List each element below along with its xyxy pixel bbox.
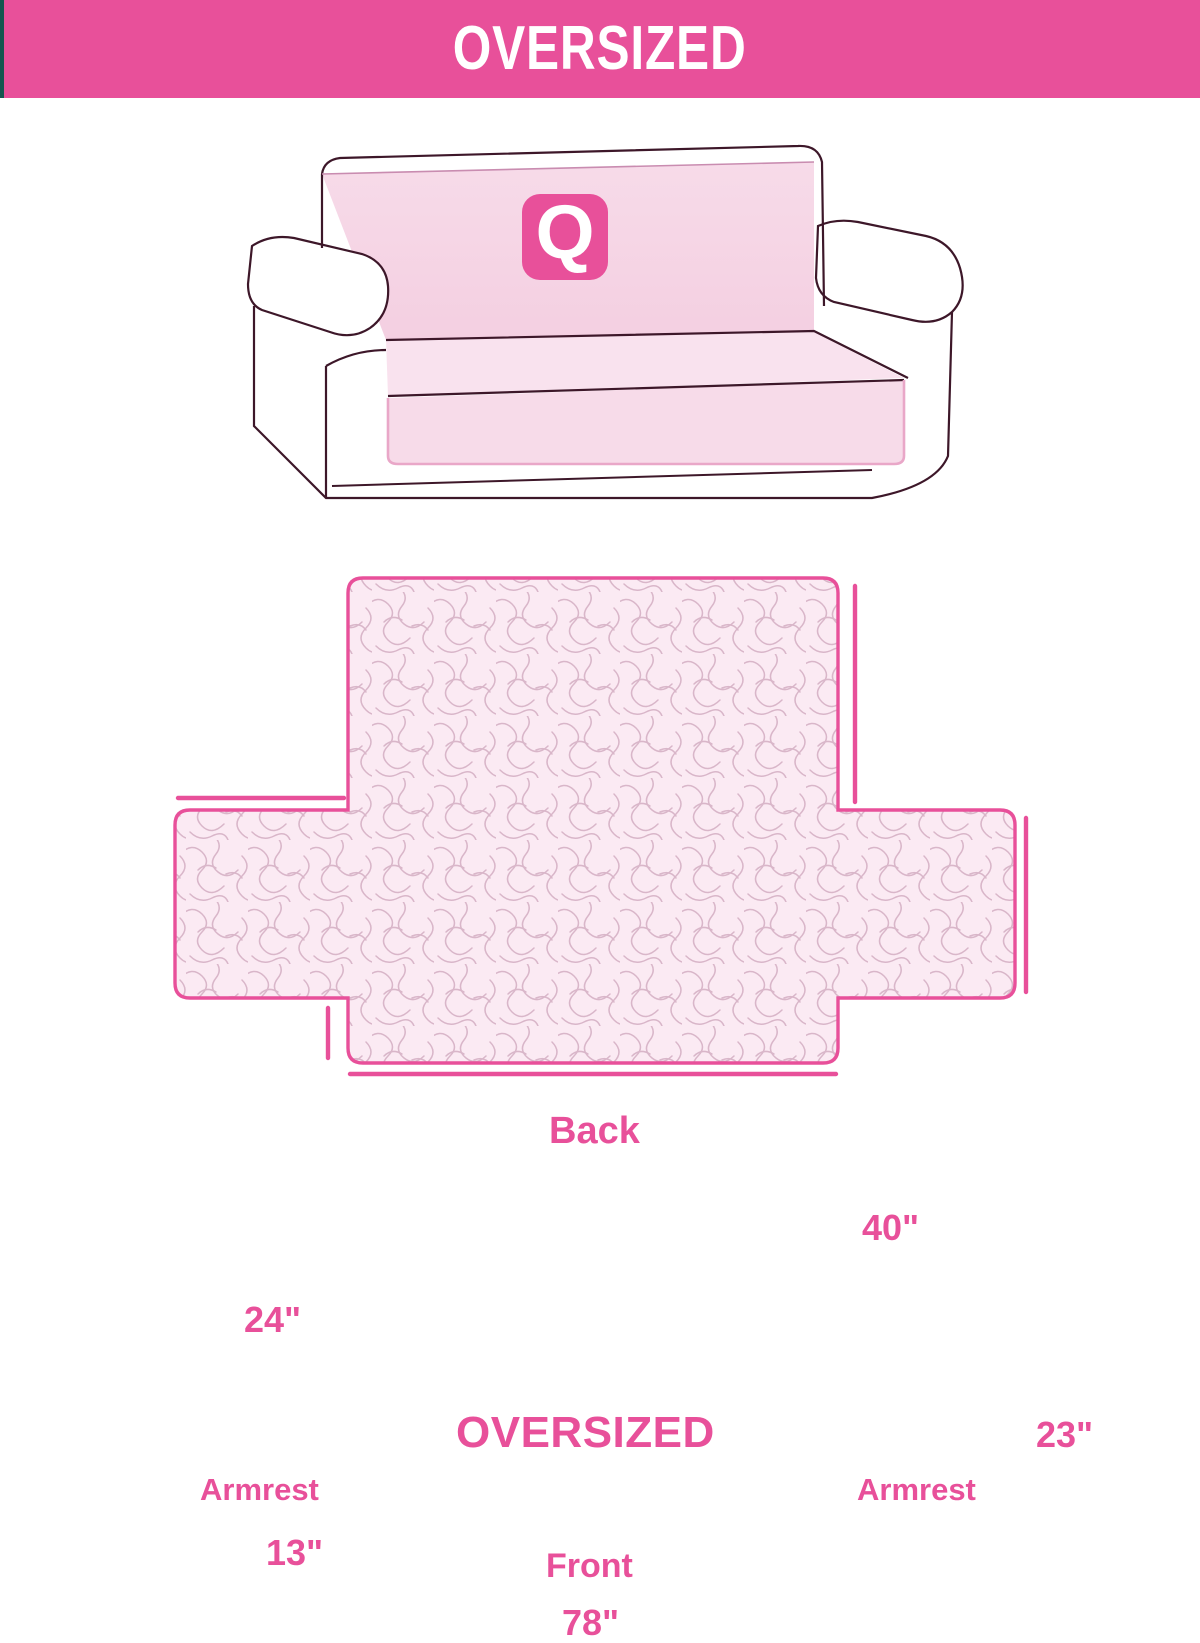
- header-banner: OVERSIZED: [0, 0, 1200, 98]
- panel-label-armrest-right: Armrest: [857, 1474, 976, 1505]
- measurement-armrest-height: 23": [1036, 1417, 1093, 1453]
- banner-title: OVERSIZED: [453, 18, 747, 80]
- sofa-svg: Q: [236, 126, 976, 516]
- measurement-back-width: 24": [244, 1302, 301, 1338]
- sofa-left-inner-edge: [326, 350, 386, 366]
- sofa-arm-right: [816, 221, 963, 322]
- cover-quilt-fill: [0, 530, 1200, 1130]
- sofa-illustration: Q: [236, 126, 976, 516]
- sofa-base-seam: [332, 470, 872, 486]
- measurement-front-drop: 13": [266, 1535, 323, 1571]
- diagram-title: OVERSIZED: [456, 1411, 715, 1455]
- banner-left-edge-accent: [0, 0, 4, 98]
- q-logo: Q: [522, 190, 608, 280]
- panel-label-armrest-left: Armrest: [200, 1474, 319, 1505]
- measurement-back-height: 40": [862, 1210, 919, 1246]
- panel-label-back: Back: [549, 1112, 640, 1150]
- page-root: OVERSIZED: [0, 0, 1200, 1200]
- measurement-total-width: 78": [562, 1605, 619, 1641]
- dimension-diagram: Back OVERSIZED Armrest Armrest Front 24"…: [0, 530, 1200, 1130]
- cover-shape: [0, 530, 1200, 1130]
- dimension-diagram-svg: [0, 530, 1200, 1130]
- panel-label-front: Front: [546, 1549, 633, 1583]
- q-logo-letter: Q: [535, 190, 594, 275]
